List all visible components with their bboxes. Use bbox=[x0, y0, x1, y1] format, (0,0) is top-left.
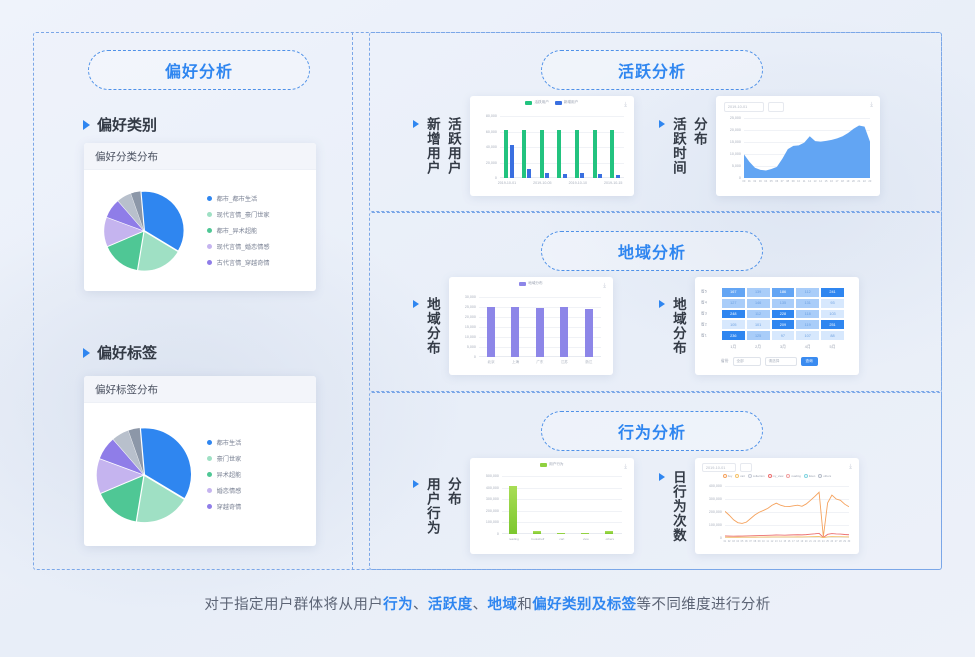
heatmap-cell-0-4[interactable]: 241 bbox=[820, 287, 845, 298]
row-user-behavior: 用户行为 分布 用户行为⤓500,000400,000300,000200,00… bbox=[413, 458, 634, 554]
chart-card-user-behavior: 用户行为⤓500,000400,000300,000200,000100,000… bbox=[470, 458, 634, 554]
bar-活跃用户-5 bbox=[593, 130, 597, 178]
x-axis-tick: 浙江 bbox=[585, 360, 592, 365]
x-axis-tick: 06 bbox=[745, 540, 748, 543]
x-axis-tick: 2019-10-05 bbox=[533, 181, 551, 185]
heatmap-cell-1-1[interactable]: 146 bbox=[746, 298, 771, 309]
legend-color-dot bbox=[207, 504, 212, 509]
legend-label: 都市_异术超能 bbox=[217, 226, 258, 235]
legend-swatch bbox=[555, 101, 562, 105]
row-label: 新增用户 活跃用户 bbox=[413, 117, 461, 175]
row-label: 地域分布 bbox=[413, 297, 440, 355]
legend-item: 穿越奇情 bbox=[207, 502, 316, 511]
legend-item: collection bbox=[748, 474, 765, 478]
heatmap-cell-3-1[interactable]: 101 bbox=[746, 319, 771, 330]
caption-bold-preference: 偏好类别及标签 bbox=[532, 597, 636, 613]
heading-label: 偏好标签 bbox=[97, 342, 157, 363]
heatmap-controls: 省份全部请选择查询 bbox=[721, 357, 818, 366]
triangle-bullet-icon bbox=[659, 300, 665, 308]
caption-part-4: 和 bbox=[517, 597, 532, 613]
caption-part-3: 、 bbox=[473, 597, 488, 613]
legend-item: cart bbox=[735, 474, 745, 478]
vertical-label-group: 活跃时间 分布 bbox=[670, 117, 707, 175]
legend-color-dot bbox=[207, 472, 212, 477]
x-axis-tick: bookshelf bbox=[531, 537, 544, 541]
gridline bbox=[500, 163, 624, 164]
footer-caption: 对于指定用户群体将从用户行为、活跃度、地域和偏好类别及标签等不同维度进行分析 bbox=[0, 593, 975, 614]
y-axis-tick: 40,000 bbox=[486, 145, 497, 149]
heatmap-cell-1-2[interactable]: 135 bbox=[771, 298, 796, 309]
x-axis-tick: 20 bbox=[805, 540, 808, 543]
row-label: 日行为次数 bbox=[659, 470, 686, 543]
legend-item: buy bbox=[723, 474, 733, 478]
triangle-bullet-icon bbox=[413, 120, 419, 128]
legend-item: 现代言情_豪门世家 bbox=[207, 210, 316, 219]
chart-card-new-active-users: 活跃用户新增用户⤓80,00060,00040,00020,00002019-1… bbox=[470, 96, 634, 196]
chart-card-region-heatmap: 1671391861122411271461351319324811222811… bbox=[695, 277, 859, 375]
y-axis-tick: 60,000 bbox=[486, 130, 497, 134]
heatmap-cell-1-0[interactable]: 127 bbox=[721, 298, 746, 309]
heatmap-cell-0-0[interactable]: 167 bbox=[721, 287, 746, 298]
x-axis-tick: 17 bbox=[836, 180, 839, 183]
x-axis-tick: 21 bbox=[809, 540, 812, 543]
plot-area: 400,000300,000200,000100,000001020304050… bbox=[725, 486, 849, 538]
legend-marker bbox=[735, 474, 739, 478]
heatmap-cell-4-3[interactable]: 107 bbox=[795, 330, 820, 341]
y-axis-tick: 25,000 bbox=[465, 305, 476, 309]
legend-color-dot bbox=[207, 440, 212, 445]
legend-item: 用户行为 bbox=[540, 462, 563, 467]
pie-legend-category: 都市_都市生活现代言情_豪门世家都市_异术超能现代言情_婚恋情感古代言情_穿越奇… bbox=[205, 170, 316, 291]
y-axis-tick: 10,000 bbox=[465, 335, 476, 339]
legend-marker bbox=[748, 474, 752, 478]
caption-bold-behavior: 行为 bbox=[383, 597, 413, 613]
heatmap-cell-2-0[interactable]: 248 bbox=[721, 309, 746, 320]
bar-4 bbox=[585, 309, 593, 357]
chart-legend: 活跃用户新增用户 bbox=[470, 100, 634, 105]
y-axis-tick: 20,000 bbox=[465, 315, 476, 319]
x-axis-tick: 08 bbox=[786, 180, 789, 183]
row-new-active-users: 新增用户 活跃用户 活跃用户新增用户⤓80,00060,00040,00020,… bbox=[413, 96, 634, 196]
gridline bbox=[500, 116, 624, 117]
y-axis-tick: 15,000 bbox=[730, 140, 741, 144]
x-axis-tick: 14 bbox=[779, 540, 782, 543]
x-axis-tick: 09 bbox=[792, 180, 795, 183]
area-path bbox=[744, 126, 870, 179]
bar-view bbox=[581, 533, 589, 534]
heatmap-cell-4-2[interactable]: 97 bbox=[771, 330, 796, 341]
y-axis-tick: 0 bbox=[497, 532, 499, 536]
x-axis-tick: 02 bbox=[753, 180, 756, 183]
card-preference-tag: 偏好标签分布 都市生活豪门世家异术超能婚恋情感穿越奇情 bbox=[84, 376, 316, 546]
legend-marker bbox=[804, 474, 808, 478]
x-axis-tick: 21 bbox=[857, 180, 860, 183]
triangle-bullet-icon bbox=[659, 120, 665, 128]
heatmap-row-label: 省2 bbox=[701, 322, 707, 327]
x-axis-tick: 10 bbox=[762, 540, 765, 543]
legend-item: 都市_异术超能 bbox=[207, 226, 316, 235]
bar-活跃用户-1 bbox=[522, 130, 526, 178]
legend-swatch bbox=[540, 463, 547, 467]
caption-part-1: 对于指定用户群体将从用户 bbox=[204, 597, 383, 613]
x-axis-tick: 07 bbox=[781, 180, 784, 183]
query-button[interactable]: 查询 bbox=[801, 357, 818, 366]
row-label: 用户行为 分布 bbox=[413, 477, 461, 535]
y-axis-tick: 10,000 bbox=[730, 152, 741, 156]
x-axis-tick: 03 bbox=[732, 540, 735, 543]
legend-label: my_view bbox=[773, 474, 784, 478]
legend-label: 现代言情_婚恋情感 bbox=[217, 242, 270, 251]
gridline bbox=[502, 511, 622, 512]
x-axis-tick: 01 bbox=[724, 540, 727, 543]
legend-item: listen bbox=[804, 474, 816, 478]
legend-label: 穿越奇情 bbox=[217, 502, 242, 511]
heatmap-row-label: 省5 bbox=[701, 290, 707, 295]
x-axis-tick: 13 bbox=[814, 180, 817, 183]
y-axis-tick: 300,000 bbox=[709, 497, 722, 501]
vertical-label-group: 地域分布 bbox=[424, 297, 440, 355]
pie-svg bbox=[98, 185, 190, 277]
legend-marker bbox=[818, 474, 822, 478]
x-axis-tick: 2019-10-10 bbox=[569, 181, 587, 185]
legend-label: 异术超能 bbox=[217, 470, 242, 479]
x-axis-tick: 22 bbox=[863, 180, 866, 183]
legend-color-dot bbox=[207, 196, 212, 201]
heatmap-cell-4-0[interactable]: 236 bbox=[721, 330, 746, 341]
download-icon[interactable]: ⤓ bbox=[603, 283, 606, 290]
heading-preference-tag: 偏好标签 bbox=[83, 342, 157, 363]
x-axis-tick: 07 bbox=[749, 540, 752, 543]
x-axis-tick: 23 bbox=[868, 180, 871, 183]
legend-swatch bbox=[519, 282, 526, 286]
heatmap-cell-2-1[interactable]: 112 bbox=[746, 309, 771, 320]
chart-card-active-time: 2019-10-01⤓25,00020,00015,00010,0005,000… bbox=[716, 96, 880, 196]
card-title: 偏好分类分布 bbox=[84, 143, 316, 170]
y-axis-tick: 5,000 bbox=[732, 164, 741, 168]
heatmap-cell-0-2[interactable]: 186 bbox=[771, 287, 796, 298]
x-axis-tick: 13 bbox=[775, 540, 778, 543]
heatmap-col-label: 5月 bbox=[830, 345, 836, 350]
plot-area: 80,00060,00040,00020,00002019-10-012019-… bbox=[500, 116, 624, 178]
bar-活跃用户-2 bbox=[540, 130, 544, 178]
legend-item: reading bbox=[786, 474, 800, 478]
infographic-page: 偏好分析 偏好类别 偏好分类分布 都市_都市生活现代言情_豪门世家都市_异术超能… bbox=[0, 0, 975, 657]
legend-item: 现代言情_婚恋情感 bbox=[207, 242, 316, 251]
x-axis-tick: 2019-10-15 bbox=[604, 181, 622, 185]
gridline bbox=[502, 488, 622, 489]
heatmap-cell-4-4[interactable]: 88 bbox=[820, 330, 845, 341]
x-axis-tick: 06 bbox=[775, 180, 778, 183]
x-axis-tick: 23 bbox=[818, 540, 821, 543]
date-filter[interactable]: 2019-10-01 bbox=[724, 102, 764, 112]
x-axis-tick: 05 bbox=[741, 540, 744, 543]
x-axis-tick: 16 bbox=[788, 540, 791, 543]
heatmap-grid: 1671391861122411271461351319324811222811… bbox=[721, 287, 845, 341]
heatmap-cell-2-3[interactable]: 118 bbox=[795, 309, 820, 320]
heatmap-cell-4-1[interactable]: 125 bbox=[746, 330, 771, 341]
x-axis-tick: 19 bbox=[801, 540, 804, 543]
pie-chart-category bbox=[84, 170, 205, 291]
vertical-label-group: 地域分布 bbox=[670, 297, 686, 355]
plot-area: 30,00025,00020,00015,00010,0005,0000北京上海… bbox=[479, 297, 601, 357]
y-axis-tick: 300,000 bbox=[486, 497, 499, 501]
x-axis-tick: 01 bbox=[748, 180, 751, 183]
legend-label: 新增用户 bbox=[564, 100, 578, 105]
y-axis-tick: 30,000 bbox=[465, 295, 476, 299]
heatmap-col-label: 4月 bbox=[805, 345, 811, 350]
legend-color-dot bbox=[207, 488, 212, 493]
gridline bbox=[479, 297, 601, 298]
y-axis-tick: 100,000 bbox=[709, 523, 722, 527]
x-axis-tick: 10 bbox=[797, 180, 800, 183]
bar-2 bbox=[536, 308, 544, 357]
chart-card-region-bar: 地域分布⤓30,00025,00020,00015,00010,0005,000… bbox=[449, 277, 613, 375]
bar-活跃用户-3 bbox=[557, 130, 561, 178]
province-select[interactable]: 全部 bbox=[733, 357, 761, 366]
x-axis-tick: 上海 bbox=[512, 360, 519, 365]
triangle-bullet-icon bbox=[83, 120, 90, 130]
legend-label: 古代言情_穿越奇情 bbox=[217, 258, 270, 267]
bar-活跃用户-4 bbox=[575, 130, 579, 178]
x-axis-tick: 29 bbox=[843, 540, 846, 543]
x-axis-tick: 19 bbox=[846, 180, 849, 183]
chart-card-daily-behavior: 2019-10-01buycartcollectionmy_viewreadin… bbox=[695, 458, 859, 554]
bar-新增用户-2 bbox=[545, 173, 549, 178]
label-active-user: 活跃用户 bbox=[445, 117, 461, 175]
heatmap-row-label: 省1 bbox=[701, 333, 707, 338]
bar-0 bbox=[487, 307, 495, 357]
x-axis-tick: 12 bbox=[771, 540, 774, 543]
bar-新增用户-4 bbox=[580, 173, 584, 178]
legend-marker bbox=[768, 474, 772, 478]
y-axis-tick: 20,000 bbox=[486, 161, 497, 165]
legend-color-dot bbox=[207, 212, 212, 217]
legend-label: 都市_都市生活 bbox=[217, 194, 258, 203]
x-axis-tick: 09 bbox=[758, 540, 761, 543]
x-axis-tick: 17 bbox=[792, 540, 795, 543]
bar-新增用户-0 bbox=[510, 145, 514, 178]
caption-part-5: 等不同维度进行分析 bbox=[637, 597, 771, 613]
vertical-label-group: 新增用户 活跃用户 bbox=[424, 117, 461, 175]
y-axis-tick: 5,000 bbox=[467, 345, 476, 349]
row-daily-behavior: 日行为次数 2019-10-01buycartcollectionmy_view… bbox=[659, 458, 859, 554]
legend-item: 婚恋情感 bbox=[207, 486, 316, 495]
section-title-region: 地域分析 bbox=[541, 231, 763, 271]
heatmap-cell-0-1[interactable]: 139 bbox=[746, 287, 771, 298]
heatmap-row-label: 省3 bbox=[701, 312, 707, 317]
gridline bbox=[502, 522, 622, 523]
legend-label: 豪门世家 bbox=[217, 454, 242, 463]
card-preference-category: 偏好分类分布 都市_都市生活现代言情_豪门世家都市_异术超能现代言情_婚恋情感古… bbox=[84, 143, 316, 291]
plot-area: 25,00020,00015,00010,0005,00000001020304… bbox=[744, 118, 870, 178]
heatmap-cell-2-2[interactable]: 228 bbox=[771, 309, 796, 320]
plot-area: 500,000400,000300,000200,000100,0000read… bbox=[502, 476, 622, 534]
legend-item: 豪门世家 bbox=[207, 454, 316, 463]
legend-item: 都市生活 bbox=[207, 438, 316, 447]
legend-item: 都市_都市生活 bbox=[207, 194, 316, 203]
x-axis-tick: 08 bbox=[754, 540, 757, 543]
x-axis-tick: cart bbox=[559, 537, 564, 541]
triangle-bullet-icon bbox=[83, 348, 90, 358]
legend-color-dot bbox=[207, 244, 212, 249]
bar-1 bbox=[511, 307, 519, 357]
x-axis-tick: 11 bbox=[803, 180, 806, 183]
x-axis-tick: 2019-10-01 bbox=[498, 181, 516, 185]
legend-color-dot bbox=[207, 260, 212, 265]
line-reading bbox=[725, 492, 849, 536]
x-axis-tick: 30 bbox=[848, 540, 851, 543]
vertical-label-group: 日行为次数 bbox=[670, 470, 686, 543]
download-icon[interactable]: ⤓ bbox=[624, 102, 627, 109]
heatmap-cell-1-3[interactable]: 131 bbox=[795, 298, 820, 309]
heatmap-cell-3-3[interactable]: 119 bbox=[795, 319, 820, 330]
bar-新增用户-6 bbox=[616, 175, 620, 178]
heatmap-cell-2-4[interactable]: 103 bbox=[820, 309, 845, 320]
label-region-distribution: 地域分布 bbox=[424, 297, 440, 355]
heatmap-col-label: 2月 bbox=[755, 345, 761, 350]
legend-item: 地域分布 bbox=[519, 281, 542, 286]
legend-label: 地域分布 bbox=[528, 281, 542, 286]
gridline bbox=[500, 147, 624, 148]
legend-label: 用户行为 bbox=[549, 462, 563, 467]
x-axis-tick: 28 bbox=[839, 540, 842, 543]
legend-label: 婚恋情感 bbox=[217, 486, 242, 495]
calendar-icon[interactable] bbox=[740, 463, 752, 472]
row-region-dist-right: 地域分布 16713918611224112714613513193248112… bbox=[659, 277, 859, 375]
legend-label: 现代言情_豪门世家 bbox=[217, 210, 270, 219]
x-axis-tick: 北京 bbox=[488, 360, 495, 365]
heatmap-cell-3-0[interactable]: 105 bbox=[721, 319, 746, 330]
legend-item: 异术超能 bbox=[207, 470, 316, 479]
heading-preference-category: 偏好类别 bbox=[83, 114, 157, 135]
caption-part-2: 、 bbox=[413, 597, 428, 613]
heatmap-cell-1-4[interactable]: 93 bbox=[820, 298, 845, 309]
label-distribution: 分布 bbox=[445, 477, 461, 535]
bar-活跃用户-0 bbox=[504, 130, 508, 178]
x-axis-tick: 02 bbox=[728, 540, 731, 543]
section-title-active: 活跃分析 bbox=[541, 50, 763, 90]
heatmap-cell-3-2[interactable]: 209 bbox=[771, 319, 796, 330]
triangle-bullet-icon bbox=[413, 480, 419, 488]
triangle-bullet-icon bbox=[659, 473, 665, 481]
pie-svg bbox=[94, 425, 194, 525]
download-icon[interactable]: ⤓ bbox=[870, 102, 873, 109]
legend-label: collection bbox=[753, 474, 765, 478]
heatmap-cell-3-4[interactable]: 251 bbox=[820, 319, 845, 330]
y-axis-tick: 15,000 bbox=[465, 325, 476, 329]
label-active-time: 活跃时间 bbox=[670, 117, 686, 175]
legend-swatch bbox=[525, 101, 532, 105]
bar-新增用户-3 bbox=[563, 174, 567, 178]
gridline bbox=[502, 499, 622, 500]
y-axis-tick: 0 bbox=[495, 176, 497, 180]
heading-label: 偏好类别 bbox=[97, 114, 157, 135]
bar-活跃用户-6 bbox=[610, 130, 614, 178]
filter-dropdown[interactable] bbox=[768, 102, 784, 112]
x-axis-tick: 15 bbox=[783, 540, 786, 543]
download-icon[interactable]: ⤓ bbox=[849, 464, 852, 471]
legend-item: my_view bbox=[768, 474, 784, 478]
gridline bbox=[500, 132, 624, 133]
legend-color-dot bbox=[207, 456, 212, 461]
y-axis-tick: 200,000 bbox=[709, 510, 722, 514]
legend-item: others bbox=[818, 474, 831, 478]
x-axis-tick: 12 bbox=[808, 180, 811, 183]
y-axis-tick: 100,000 bbox=[486, 520, 499, 524]
x-axis-tick: 14 bbox=[819, 180, 822, 183]
label-distribution: 分布 bbox=[691, 117, 707, 175]
x-axis-tick: 26 bbox=[830, 540, 833, 543]
x-axis-tick: 24 bbox=[822, 540, 825, 543]
y-axis-tick: 200,000 bbox=[486, 509, 499, 513]
x-axis-tick: 04 bbox=[736, 540, 739, 543]
label-new-user: 新增用户 bbox=[424, 117, 440, 175]
bar-新增用户-1 bbox=[527, 169, 531, 178]
x-axis-tick: 04 bbox=[764, 180, 767, 183]
x-axis-tick: 18 bbox=[841, 180, 844, 183]
row-label: 地域分布 bbox=[659, 297, 686, 355]
bar-others bbox=[605, 531, 613, 534]
y-axis-tick: 400,000 bbox=[486, 486, 499, 490]
legend-label: others bbox=[823, 474, 831, 478]
x-axis-tick: reading bbox=[509, 537, 519, 541]
legend-label: cart bbox=[740, 474, 745, 478]
heatmap-col-label: 1月 bbox=[730, 345, 736, 350]
bar-cart bbox=[557, 533, 565, 534]
legend-marker bbox=[786, 474, 790, 478]
pie-legend-tag: 都市生活豪门世家异术超能婚恋情感穿越奇情 bbox=[205, 403, 316, 546]
legend-color-dot bbox=[207, 228, 212, 233]
label-daily-behavior-count: 日行为次数 bbox=[670, 470, 686, 543]
y-axis-tick: 0 bbox=[739, 176, 741, 180]
heatmap-cell-0-3[interactable]: 112 bbox=[795, 287, 820, 298]
x-axis-tick: 03 bbox=[759, 180, 762, 183]
heatmap-col-label: 3月 bbox=[780, 345, 786, 350]
legend-item: 新增用户 bbox=[555, 100, 578, 105]
date-filter[interactable]: 2019-10-01 bbox=[702, 463, 736, 472]
triangle-bullet-icon bbox=[413, 300, 419, 308]
row-region-dist-left: 地域分布 地域分布⤓30,00025,00020,00015,00010,000… bbox=[413, 277, 613, 375]
bar-3 bbox=[560, 307, 568, 357]
x-axis-tick: 22 bbox=[813, 540, 816, 543]
download-icon[interactable]: ⤓ bbox=[624, 464, 627, 471]
card-title: 偏好标签分布 bbox=[84, 376, 316, 403]
caption-bold-activity: 活跃度 bbox=[428, 597, 473, 613]
x-axis-tick: 25 bbox=[826, 540, 829, 543]
x-axis-tick: 20 bbox=[852, 180, 855, 183]
y-axis-tick: 20,000 bbox=[730, 128, 741, 132]
vertical-label-group: 用户行为 分布 bbox=[424, 477, 461, 535]
legend-marker bbox=[723, 474, 727, 478]
x-axis-tick: 05 bbox=[770, 180, 773, 183]
x-axis-tick: 16 bbox=[830, 180, 833, 183]
legend-label: 活跃用户 bbox=[534, 100, 548, 105]
chart-legend: 地域分布 bbox=[449, 281, 613, 286]
label-user-behavior: 用户行为 bbox=[424, 477, 440, 535]
legend-item: 活跃用户 bbox=[525, 100, 548, 105]
legend-label: listen bbox=[809, 474, 816, 478]
heatmap-row-label: 省4 bbox=[701, 301, 707, 306]
bar-reading bbox=[509, 486, 517, 534]
line-cart bbox=[725, 537, 849, 538]
row-active-time: 活跃时间 分布 2019-10-01⤓25,00020,00015,00010,… bbox=[659, 96, 880, 196]
x-axis-tick: 27 bbox=[835, 540, 838, 543]
x-axis-tick: view bbox=[583, 537, 589, 541]
y-axis-tick: 400,000 bbox=[709, 484, 722, 488]
y-axis-tick: 80,000 bbox=[486, 114, 497, 118]
secondary-select[interactable]: 请选择 bbox=[765, 357, 797, 366]
bar-新增用户-5 bbox=[598, 174, 602, 178]
